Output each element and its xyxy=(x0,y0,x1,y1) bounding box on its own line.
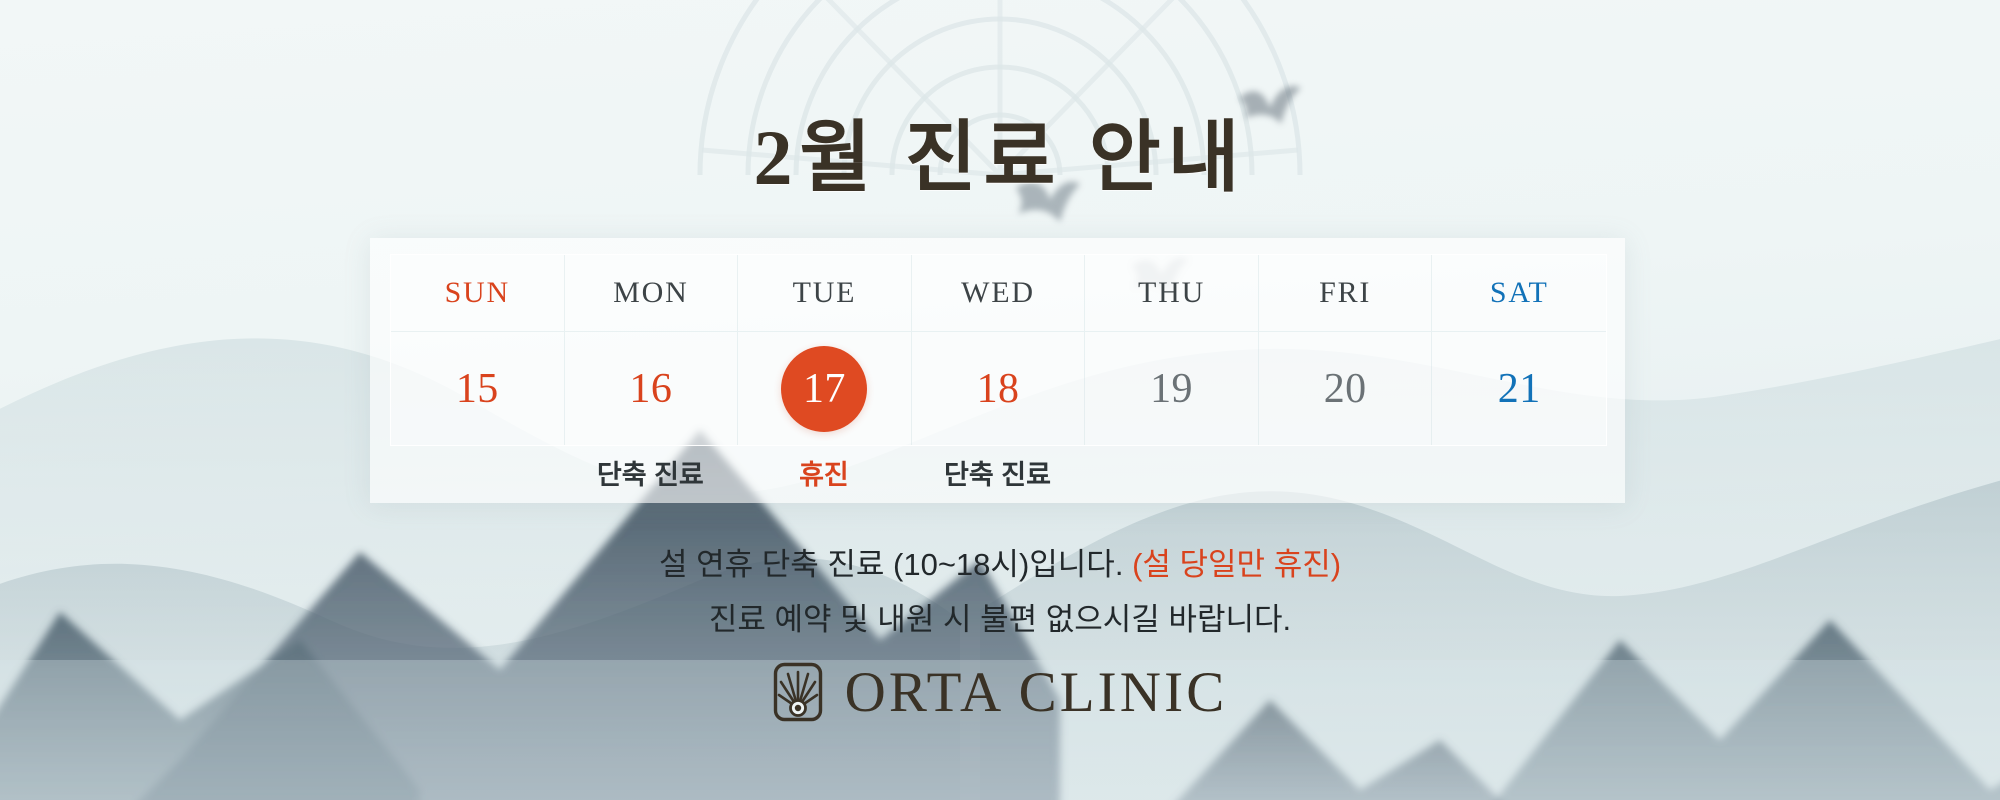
calendar-day-cell[interactable]: 18 xyxy=(912,332,1086,445)
day-number-17-selected: 17 xyxy=(781,346,867,432)
calendar-header-cell: WED xyxy=(912,255,1086,332)
day-note-fri xyxy=(1258,444,1432,500)
calendar-notes-row: 단축 진료 휴진 단축 진료 xyxy=(390,444,1605,500)
page-title: 2월 진료 안내 xyxy=(0,95,2000,207)
weekday-label-fri: FRI xyxy=(1319,276,1371,310)
calendar-day-cell[interactable]: 19 xyxy=(1085,332,1259,445)
calendar-day-cell[interactable]: 21 xyxy=(1432,332,1606,445)
day-number-19: 19 xyxy=(1150,365,1193,413)
weekday-label-sat: SAT xyxy=(1490,276,1549,310)
day-note-tue: 휴진 xyxy=(737,444,911,500)
calendar-header-cell: SAT xyxy=(1432,255,1606,332)
calendar-grid: SUN MON TUE WED THU FRI SAT 15 16 17 18 … xyxy=(390,254,1607,446)
day-number-21: 21 xyxy=(1498,365,1541,413)
notice-line-1: 설 연휴 단축 진료 (10~18시)입니다. (설 당일만 휴진) xyxy=(0,539,2000,584)
calendar-header-cell: MON xyxy=(565,255,739,332)
calendar-day-cell[interactable]: 20 xyxy=(1259,332,1433,445)
calendar-header-cell: THU xyxy=(1085,255,1259,332)
day-note-mon: 단축 진료 xyxy=(564,444,738,500)
day-note-thu xyxy=(1084,444,1258,500)
poster-canvas: 2월 진료 안내 SUN MON TUE WED THU FRI SAT 15 … xyxy=(0,0,2000,800)
sunburst-emblem-icon xyxy=(773,662,823,722)
day-number-20: 20 xyxy=(1324,365,1367,413)
brand-name: ORTA CLINIC xyxy=(845,664,1228,721)
day-note-wed: 단축 진료 xyxy=(911,444,1085,500)
notice-line-1-main: 설 연휴 단축 진료 (10~18시)입니다. xyxy=(659,547,1124,582)
weekday-label-tue: TUE xyxy=(793,276,857,310)
day-number-15: 15 xyxy=(456,365,499,413)
page-title-text: 2월 진료 안내 xyxy=(754,114,1247,201)
notice-line-1-highlight: (설 당일만 휴진) xyxy=(1132,547,1341,582)
calendar-header-cell: SUN xyxy=(391,255,565,332)
notice-line-2-text: 진료 예약 및 내원 시 불편 없으시길 바랍니다. xyxy=(709,602,1291,637)
day-number-16: 16 xyxy=(629,365,672,413)
calendar-header-cell: FRI xyxy=(1259,255,1433,332)
weekday-label-mon: MON xyxy=(613,276,688,310)
brand-logo: ORTA CLINIC xyxy=(0,662,2000,722)
calendar-day-cell[interactable]: 15 xyxy=(391,332,565,445)
calendar-day-cell[interactable]: 17 xyxy=(738,332,912,445)
day-number-18: 18 xyxy=(977,365,1020,413)
weekday-label-sun: SUN xyxy=(445,276,510,310)
notice-line-2: 진료 예약 및 내원 시 불편 없으시길 바랍니다. xyxy=(0,594,2000,639)
day-note-sun xyxy=(390,444,564,500)
weekday-label-thu: THU xyxy=(1138,276,1205,310)
day-note-sat xyxy=(1431,444,1605,500)
calendar-day-cell[interactable]: 16 xyxy=(565,332,739,445)
weekday-label-wed: WED xyxy=(961,276,1035,310)
calendar-header-cell: TUE xyxy=(738,255,912,332)
calendar-card: SUN MON TUE WED THU FRI SAT 15 16 17 18 … xyxy=(370,238,1625,503)
